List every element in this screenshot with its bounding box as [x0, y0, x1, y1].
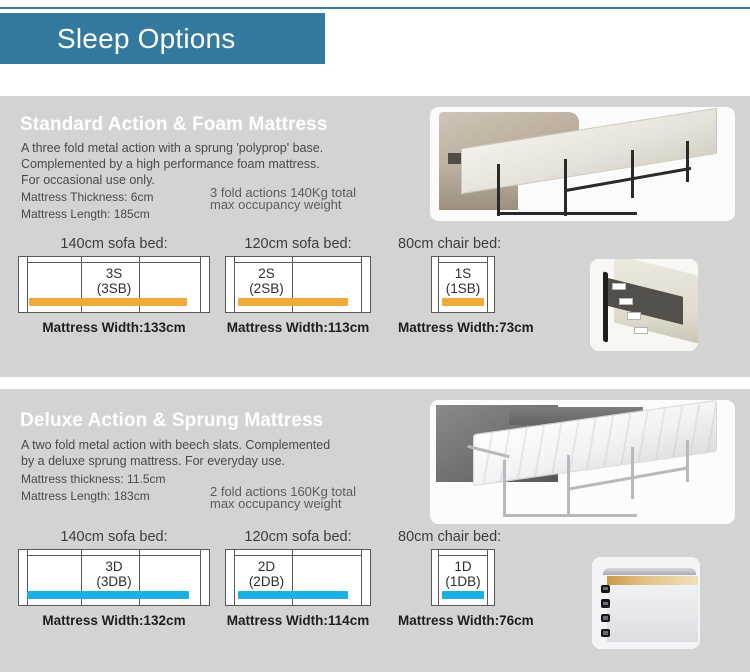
section-deluxe-spec-length: Mattress Length: 183cm: [21, 488, 150, 504]
bed-code-alt: (1SB): [432, 281, 494, 296]
section-deluxe-spec-thickness: Mattress thickness: 11.5cm: [21, 471, 166, 487]
bed-diagram-2s: 120cm sofa bed: 2S (2SB) Mattress Width:…: [225, 236, 371, 335]
sleep-options-page: Sleep Options Standard Action & Foam Mat…: [0, 0, 750, 672]
section-standard-spec-thickness: Mattress Thickness: 6cm: [21, 189, 153, 205]
page-title: Sleep Options: [0, 23, 236, 55]
mattress-width-2s: Mattress Width:113cm: [225, 320, 371, 335]
bed-code-1s: 1S (1SB): [432, 266, 494, 296]
bed-code-3d: 3D (3DB): [19, 559, 209, 589]
mattress-bar-1s: [442, 298, 484, 306]
sofa-back-rail: [439, 262, 487, 263]
bed-diagram-3d: 140cm sofa bed: 3D (3DB) Mattress Width:…: [18, 529, 210, 628]
mattress-bar-2s: [238, 298, 348, 306]
bed-box-3d: 3D (3DB): [18, 549, 210, 606]
section-standard-title: Standard Action & Foam Mattress: [20, 114, 328, 136]
bed-code-3s: 3S (3SB): [19, 266, 209, 296]
sofa-back-rail: [28, 262, 200, 263]
bed-diagram-1s: 80cm chair bed: 1S (1SB) Mattress Width:…: [398, 236, 546, 335]
section-standard-desc-line-3: For occasional use only.: [21, 172, 155, 188]
mattress-bar-3d: [27, 591, 189, 599]
section-standard-desc-line-2: Complemented by a high performance foam …: [21, 156, 320, 172]
bed-code-alt: (1DB): [432, 574, 494, 589]
mattress-width-2d: Mattress Width:114cm: [225, 613, 371, 628]
sofa-arm-right: [361, 257, 370, 312]
mattress-width-1d: Mattress Width:76cm: [398, 613, 546, 628]
section-deluxe-note-line-2: max occupancy weight: [210, 497, 342, 511]
bed-code-alt: (3SB): [19, 281, 209, 296]
bed-code-2d: 2D (2DB): [232, 559, 301, 589]
bed-box-2s: 2S (2SB): [225, 256, 371, 313]
beech-slats-closeup-photo: [592, 557, 700, 649]
sofa-back-rail: [235, 262, 361, 263]
bed-diagram-1d: 80cm chair bed: 1D (1DB) Mattress Width:…: [398, 529, 546, 628]
title-bar: Sleep Options: [0, 13, 325, 64]
section-deluxe-title: Deluxe Action & Sprung Mattress: [20, 410, 323, 432]
section-standard: Standard Action & Foam Mattress A three …: [0, 96, 750, 377]
standard-sofa-bed-photo: [430, 107, 735, 221]
bed-code-primary: 3D: [19, 559, 209, 574]
bed-code-primary: 1D: [432, 559, 494, 574]
bed-box-1d: 1D (1DB): [431, 549, 495, 606]
polyprop-base-closeup-photo: [590, 259, 698, 351]
section-deluxe-desc-line-2: by a deluxe sprung mattress. For everyda…: [21, 453, 285, 469]
mattress-width-1s: Mattress Width:73cm: [398, 320, 546, 335]
bed-diagram-2d: 120cm sofa bed: 2D (2DB) Mattress Width:…: [225, 529, 371, 628]
bed-box-1s: 1S (1SB): [431, 256, 495, 313]
bed-code-alt: (2DB): [232, 574, 301, 589]
sofa-back-rail: [439, 555, 487, 556]
mattress-width-3s: Mattress Width:133cm: [18, 320, 210, 335]
bed-label-3d: 140cm sofa bed:: [18, 529, 210, 545]
bed-code-primary: 1S: [432, 266, 494, 281]
bed-label-1s: 80cm chair bed:: [398, 236, 546, 252]
bed-diagram-3s: 140cm sofa bed: 3S (3SB) Mattress Width:…: [18, 236, 210, 335]
mattress-bar-1d: [442, 591, 484, 599]
sofa-back-rail: [28, 555, 200, 556]
bed-code-primary: 2D: [232, 559, 301, 574]
bed-code-primary: 3S: [19, 266, 209, 281]
bed-box-2d: 2D (2DB): [225, 549, 371, 606]
bed-code-alt: (3DB): [19, 574, 209, 589]
mattress-width-3d: Mattress Width:132cm: [18, 613, 210, 628]
top-rule: [0, 7, 750, 9]
deluxe-sofa-bed-photo: [430, 400, 735, 524]
bed-label-2s: 120cm sofa bed:: [225, 236, 371, 252]
sofa-arm-right: [361, 550, 370, 605]
sofa-back-rail: [235, 555, 361, 556]
mattress-bar-3s: [29, 298, 187, 306]
section-standard-spec-length: Mattress Length: 185cm: [21, 206, 150, 222]
bed-label-1d: 80cm chair bed:: [398, 529, 546, 545]
bed-code-primary: 2S: [232, 266, 301, 281]
mattress-bar-2d: [238, 591, 348, 599]
bed-label-2d: 120cm sofa bed:: [225, 529, 371, 545]
section-standard-note-line-2: max occupancy weight: [210, 198, 342, 212]
section-standard-desc-line-1: A three fold metal action with a sprung …: [21, 140, 323, 156]
bed-code-alt: (2SB): [232, 281, 301, 296]
bed-code-2s: 2S (2SB): [232, 266, 301, 296]
section-deluxe: Deluxe Action & Sprung Mattress A two fo…: [0, 389, 750, 672]
section-deluxe-desc-line-1: A two fold metal action with beech slats…: [21, 437, 330, 453]
bed-label-3s: 140cm sofa bed:: [18, 236, 210, 252]
bed-code-1d: 1D (1DB): [432, 559, 494, 589]
bed-box-3s: 3S (3SB): [18, 256, 210, 313]
